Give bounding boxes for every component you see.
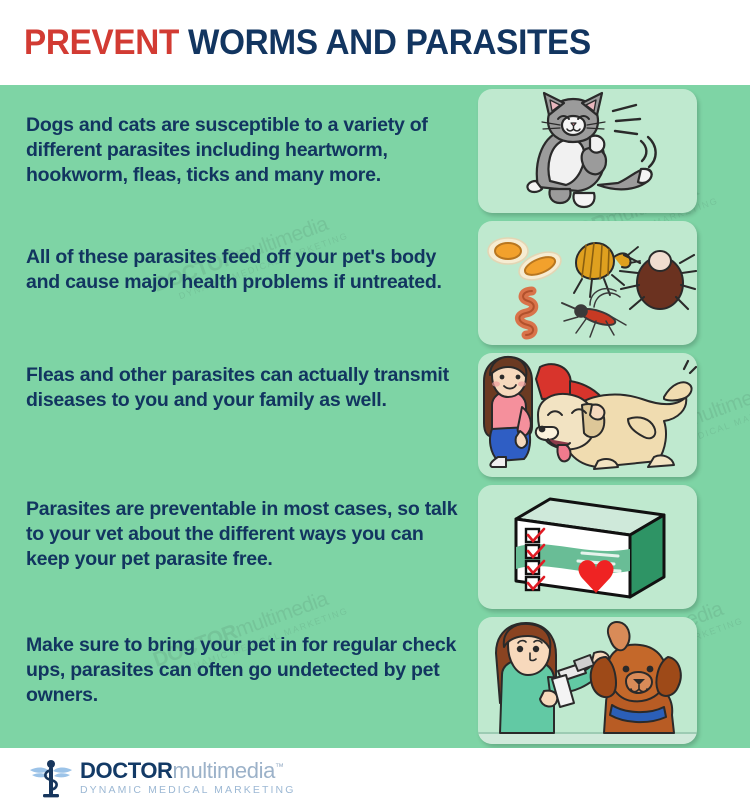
parasites-group-icon	[478, 221, 697, 345]
body-panel: DOCTORmultimedia DYNAMIC MEDICAL MARKETI…	[0, 85, 750, 748]
vet-examining-dog-icon	[478, 617, 697, 744]
point-text-2: All of these parasites feed off your pet…	[26, 245, 470, 295]
point-text-4: Parasites are preventable in most cases,…	[26, 497, 470, 572]
point-text-3: Fleas and other parasites can actually t…	[26, 363, 470, 413]
cat-scratching-icon	[478, 89, 697, 213]
text-column: Dogs and cats are susceptible to a varie…	[26, 85, 470, 748]
point-text-1: Dogs and cats are susceptible to a varie…	[26, 113, 470, 188]
brand-tagline: DYNAMIC MEDICAL MARKETING	[80, 785, 295, 796]
illustration-panel-treatment-box	[478, 485, 697, 609]
brand-lockup: DOCTORmultimedia™ DYNAMIC MEDICAL MARKET…	[80, 760, 295, 796]
illustration-panel-family-dog	[478, 353, 697, 477]
illustration-panel-parasites	[478, 221, 697, 345]
page-title-main: WORMS AND PARASITES	[179, 23, 591, 62]
infographic-page: PREVENT WORMS AND PARASITES DOCTORmultim…	[0, 0, 750, 808]
caduceus-icon	[28, 757, 74, 799]
brand-name-light: multimedia	[173, 758, 275, 783]
point-text-5: Make sure to bring your pet in for regul…	[26, 633, 470, 708]
brand-name-bold: DOCTOR	[80, 758, 173, 783]
illustration-panel-vet-exam	[478, 617, 697, 744]
header: PREVENT WORMS AND PARASITES	[0, 0, 750, 85]
page-title-accent: PREVENT	[24, 23, 179, 62]
family-with-dog-icon	[478, 353, 697, 477]
trademark-symbol: ™	[275, 762, 284, 772]
page-title: PREVENT WORMS AND PARASITES	[24, 23, 591, 63]
illustration-panel-cat-scratching	[478, 89, 697, 213]
treatment-box-icon	[478, 485, 697, 609]
footer: DOCTORmultimedia™ DYNAMIC MEDICAL MARKET…	[0, 748, 750, 808]
